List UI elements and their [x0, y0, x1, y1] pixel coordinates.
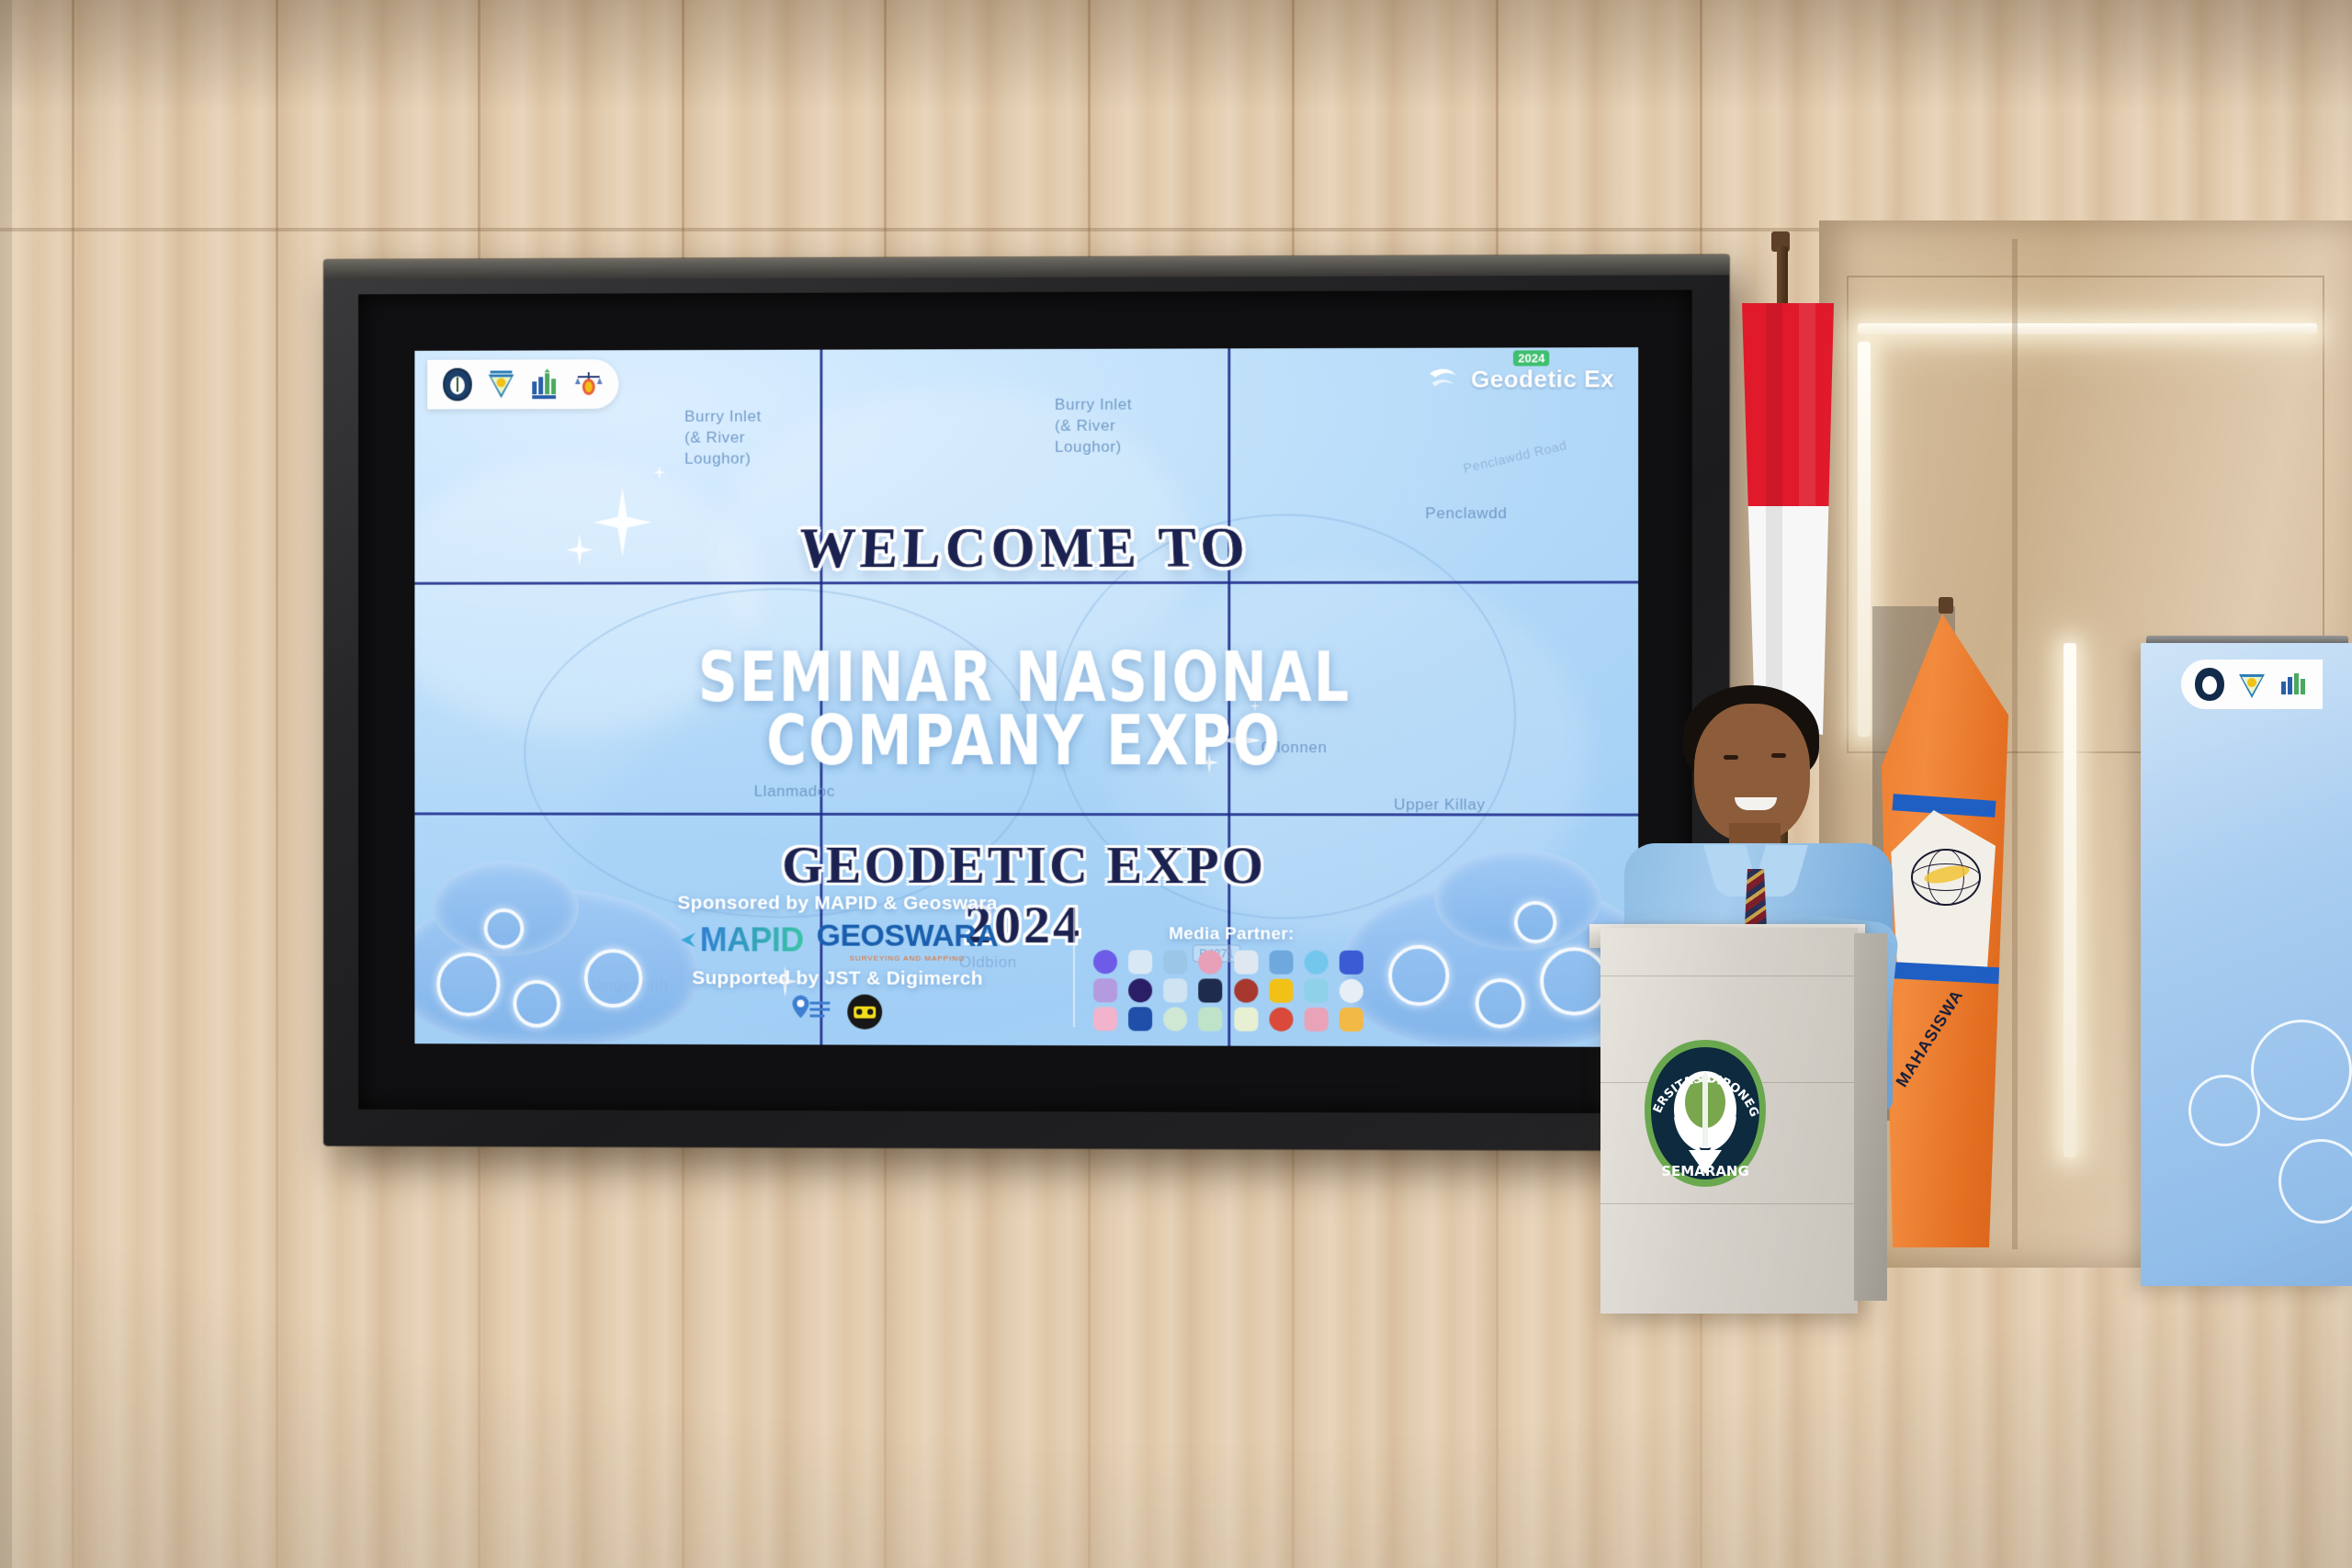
undip-crest-icon: [2194, 667, 2225, 702]
media-partner-icon: [1234, 979, 1258, 1003]
welcome-to-text: WELCOME TO: [797, 516, 1251, 581]
wall-top-shadow: [0, 0, 2352, 110]
map-label-penclawdd-road: Penclawdd Road: [1462, 437, 1568, 476]
slide-welcome-heading: WELCOME TO: [414, 515, 1638, 582]
flag-finial: [1939, 597, 1953, 614]
undip-podium-crest-icon: SEMARANG UNIVERSITAS DIPONEGORO: [1637, 1036, 1773, 1192]
media-partners-section: Media Partner:: [1093, 924, 1370, 1032]
media-partner-icon: [1234, 1008, 1258, 1032]
media-partner-icon: [1269, 951, 1293, 975]
org-flag-text-line1: MAHASISWA: [1893, 987, 1968, 1091]
sponsor-logo-row: MAPID GEOSWARA SURVEYING AND MAPPING: [622, 918, 1053, 963]
media-partner-icon: [1304, 979, 1328, 1003]
media-partner-icon: [1304, 1008, 1328, 1032]
slide-seminar-title: SEMINAR NASIONAL COMPANY EXPO: [414, 645, 1638, 773]
media-partner-icon: [1340, 951, 1363, 975]
media-partner-icon: [1304, 951, 1328, 975]
wall-panel-line: [72, 0, 74, 1568]
media-partner-icon: [1128, 1007, 1152, 1031]
institution-logo-pill: [427, 359, 618, 409]
banner-logo-pill: [2181, 660, 2323, 709]
podium-side-panel: [1854, 933, 1887, 1301]
media-partner-icon: [1163, 978, 1187, 1002]
dikti-logo-icon: [529, 367, 560, 401]
speaker-eye-right: [1771, 753, 1786, 758]
brand-name: Geodetic Ex: [1471, 365, 1614, 393]
geodetic-brand-lockup: 2024 Geodetic Ex: [1425, 360, 1614, 398]
presentation-slide: 2024 Geodetic Ex Burry Inlet(& RiverLoug…: [414, 347, 1638, 1047]
media-partner-icon: [1163, 950, 1187, 974]
sponsor-media-divider: [1073, 908, 1075, 1027]
media-partner-icon: [1128, 978, 1152, 1002]
speaker-smile: [1735, 797, 1777, 810]
digimerch-logo-icon: [846, 994, 883, 1031]
media-partner-icon: [1128, 950, 1152, 974]
supported-by-caption: Supported by JST & Digimerch: [622, 967, 1053, 990]
brand-year-badge: 2024: [1513, 350, 1549, 366]
kementerian-crest-icon: [2236, 667, 2267, 702]
dikti-logo-icon: [2278, 667, 2310, 702]
banner-batik-cloud: [2251, 1020, 2352, 1121]
map-label-llanmadoc: Llanmadoc: [754, 783, 835, 801]
media-partner-icon-grid: [1093, 950, 1370, 1032]
media-partner-icon: [1340, 1008, 1363, 1032]
media-partner-icon: [1234, 950, 1258, 974]
sponsored-by-caption: Sponsored by MAPID & Geoswara: [622, 892, 1053, 915]
map-label-upper-killay: Upper Killay: [1394, 795, 1486, 814]
wall-panel-line: [276, 0, 278, 1568]
media-partner-icon: [1199, 978, 1223, 1002]
geodetic-swirl-icon: [1425, 361, 1462, 398]
media-partner-icon: [1269, 979, 1293, 1003]
speaker-head: [1694, 704, 1810, 841]
event-banner: [2141, 643, 2352, 1286]
media-partner-icon: [1093, 950, 1117, 974]
mapid-wordmark: MAPID: [700, 920, 804, 959]
recess-edge: [2012, 239, 2018, 1249]
media-partner-icon: [1199, 1007, 1223, 1031]
mapid-mark-icon: [677, 930, 697, 950]
map-label-burry-inlet-left: Burry Inlet(& RiverLoughor): [684, 407, 762, 470]
wall-strip-light: [2064, 643, 2076, 1157]
display-inner-bezel: 2024 Geodetic Ex Burry Inlet(& RiverLoug…: [358, 290, 1692, 1114]
crest-bottom-text: SEMARANG: [1661, 1163, 1749, 1179]
media-partner-icon: [1269, 1008, 1293, 1032]
banner-batik-cloud: [2278, 1139, 2352, 1224]
jst-logo-icon: [792, 993, 832, 1030]
banner-batik-cloud: [2188, 1075, 2260, 1146]
media-partner-icon: [1093, 1007, 1117, 1031]
scales-crest-icon: [573, 367, 605, 401]
geoswara-wordmark: GEOSWARA: [817, 919, 999, 953]
media-partner-icon: [1340, 979, 1363, 1003]
scene-root: 2024 Geodetic Ex Burry Inlet(& RiverLoug…: [0, 0, 2352, 1568]
media-partner-icon: [1163, 1007, 1187, 1031]
display-top-bevel: [323, 254, 1729, 279]
sponsors-section: Sponsored by MAPID & Geoswara MAPID GEOS…: [622, 892, 1053, 1031]
seminar-title-line2: COMPANY EXPO: [433, 702, 1620, 780]
kementerian-crest-icon: [486, 367, 517, 401]
undip-crest-icon: [442, 367, 473, 402]
indonesia-flag: [1742, 303, 1834, 735]
speaker-eye-left: [1724, 755, 1738, 760]
media-partner-caption: Media Partner:: [1093, 924, 1370, 945]
video-wall-display: 2024 Geodetic Ex Burry Inlet(& RiverLoug…: [323, 254, 1729, 1151]
ceiling-strip-light: [1858, 323, 2317, 334]
media-partner-icon: [1199, 950, 1223, 974]
map-label-burry-inlet-center: Burry Inlet(& RiverLoughor): [1055, 395, 1132, 458]
geoswara-tagline: SURVEYING AND MAPPING: [817, 954, 999, 963]
media-partner-icon: [1093, 978, 1117, 1002]
wall-strip-light: [1858, 342, 1871, 737]
supporter-logo-row: [622, 993, 1053, 1031]
